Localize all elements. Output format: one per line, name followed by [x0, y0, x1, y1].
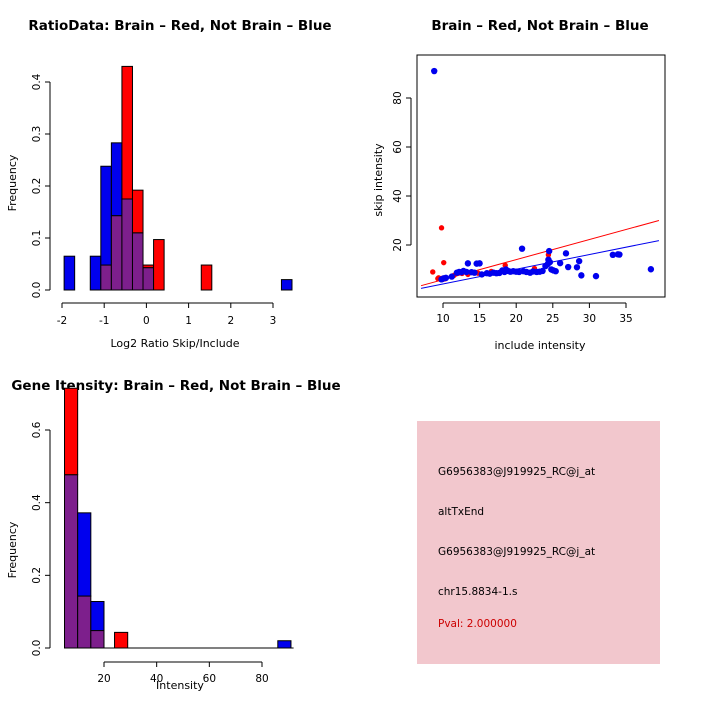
- histogram-bar-overlap: [143, 268, 154, 290]
- regression-line: [421, 221, 659, 286]
- axis-tick-label: 0.0: [31, 640, 43, 657]
- axis-tick-label: 20: [510, 313, 523, 325]
- axis-tick-label: -1: [99, 315, 109, 327]
- scatter-point: [471, 269, 477, 275]
- ratio-histogram-bars: [64, 66, 292, 290]
- scatter-point: [563, 250, 569, 256]
- event-type-text: altTxEnd: [438, 506, 484, 518]
- axis-tick-label: 0.2: [31, 567, 43, 584]
- scatter-title: Brain – Red, Not Brain – Blue: [431, 18, 648, 34]
- axis-tick-label: 80: [255, 673, 268, 685]
- scatter-point: [616, 251, 622, 257]
- axis-tick-label: 0.0: [31, 282, 43, 299]
- scatter-xlabel: include intensity: [494, 339, 586, 352]
- axis-tick-label: 0.4: [31, 494, 43, 511]
- scatter-point: [430, 269, 435, 274]
- scatter-point: [519, 245, 525, 251]
- gene-histogram-svg: Gene Itensity: Brain – Red, Not Brain – …: [0, 360, 360, 720]
- ratio-histogram-svg: RatioData: Brain – Red, Not Brain – Blue…: [0, 0, 360, 360]
- scatter-plot-box: [417, 55, 665, 297]
- histogram-bar-overlap: [122, 199, 133, 290]
- axis-tick-label: 0.6: [31, 421, 43, 438]
- axis-tick-label: 0: [143, 315, 150, 327]
- histogram-bar-overlap: [111, 216, 122, 290]
- ratio-histogram-xlabel: Log2 Ratio Skip/Include: [110, 337, 239, 350]
- histogram-bar: [78, 513, 91, 596]
- scatter-point: [441, 260, 446, 265]
- histogram-bar: [64, 256, 75, 290]
- histogram-bar: [65, 388, 78, 474]
- axis-tick-label: 1: [185, 315, 192, 327]
- scatter-point: [576, 258, 582, 264]
- histogram-bar: [154, 240, 165, 290]
- histogram-bar: [122, 66, 133, 199]
- histogram-bar: [281, 280, 292, 290]
- axis-tick-label: 0.3: [31, 126, 43, 143]
- histogram-bar: [90, 256, 101, 290]
- gene-histogram-bars: [65, 388, 294, 648]
- histogram-bar-overlap: [78, 596, 91, 648]
- axis-tick-label: 40: [392, 189, 404, 202]
- histogram-bar-overlap: [132, 233, 143, 290]
- gene-histogram-xlabel: Intensity: [156, 679, 204, 692]
- histogram-bar: [201, 265, 212, 290]
- pvalue-text: Pval: 2.000000: [438, 618, 517, 630]
- histogram-bar: [111, 143, 122, 216]
- scatter-panel: Brain – Red, Not Brain – Blue 1015202530…: [360, 0, 720, 360]
- probeset-id-secondary-text: G6956383@J919925_RC@j_at: [438, 546, 595, 558]
- axis-tick-label: 35: [619, 313, 632, 325]
- histogram-bar: [91, 601, 104, 630]
- axis-tick-label: 2: [227, 315, 234, 327]
- gene-histogram-panel: Gene Itensity: Brain – Red, Not Brain – …: [0, 360, 360, 720]
- scatter-point: [578, 272, 584, 278]
- scatter-point: [557, 260, 563, 266]
- histogram-bar: [143, 265, 154, 268]
- axis-tick-label: 20: [97, 673, 110, 685]
- scatter-plot-area: 10152025303520406080: [392, 55, 665, 325]
- scatter-point: [553, 268, 559, 274]
- ratio-histogram-ylabel: Frequency: [6, 154, 19, 211]
- scatter-point: [574, 264, 580, 270]
- genomic-coordinate-text: chr15.8834-1.s: [438, 586, 517, 598]
- axis-tick-label: 25: [546, 313, 559, 325]
- axis-tick-label: 0.1: [31, 230, 43, 247]
- gene-histogram-title: Gene Itensity: Brain – Red, Not Brain – …: [11, 378, 340, 394]
- probeset-id-text: G6956383@J919925_RC@j_at: [438, 466, 595, 478]
- scatter-point: [431, 68, 437, 74]
- histogram-bar-overlap: [91, 631, 104, 648]
- histogram-bar: [278, 641, 291, 648]
- axis-tick-label: 60: [392, 140, 404, 153]
- scatter-point: [443, 275, 449, 281]
- scatter-point: [546, 248, 552, 254]
- histogram-bar: [101, 166, 112, 265]
- scatter-point: [593, 273, 599, 279]
- axis-tick-label: 80: [392, 91, 404, 104]
- histogram-bar-overlap: [101, 265, 112, 290]
- scatter-point: [476, 260, 482, 266]
- scatter-svg: Brain – Red, Not Brain – Blue 1015202530…: [360, 0, 720, 360]
- axis-tick-label: -2: [57, 315, 67, 327]
- scatter-point: [648, 266, 654, 272]
- histogram-bar: [132, 190, 143, 233]
- axis-tick-label: 0.4: [31, 73, 43, 90]
- scatter-point: [547, 259, 553, 265]
- scatter-ylabel: skip intensity: [372, 143, 385, 217]
- gene-histogram-ylabel: Frequency: [6, 521, 19, 578]
- axis-tick-label: 30: [583, 313, 596, 325]
- axis-tick-label: 3: [270, 315, 277, 327]
- axis-tick-label: 15: [473, 313, 486, 325]
- ratio-histogram-title: RatioData: Brain – Red, Not Brain – Blue: [28, 18, 331, 34]
- scatter-point: [465, 260, 471, 266]
- axis-tick-label: 0.2: [31, 178, 43, 195]
- scatter-point: [449, 273, 455, 279]
- axis-tick-label: 60: [203, 673, 216, 685]
- annotation-info-panel: G6956383@J919925_RC@j_at altTxEnd G69563…: [417, 421, 660, 664]
- scatter-point: [439, 225, 444, 230]
- regression-line: [421, 241, 659, 289]
- histogram-bar-overlap: [65, 475, 78, 648]
- axis-tick-label: 10: [436, 313, 449, 325]
- histogram-bar: [115, 632, 128, 648]
- axis-tick-label: 20: [392, 238, 404, 251]
- scatter-point: [565, 264, 571, 270]
- ratio-histogram-panel: RatioData: Brain – Red, Not Brain – Blue…: [0, 0, 360, 360]
